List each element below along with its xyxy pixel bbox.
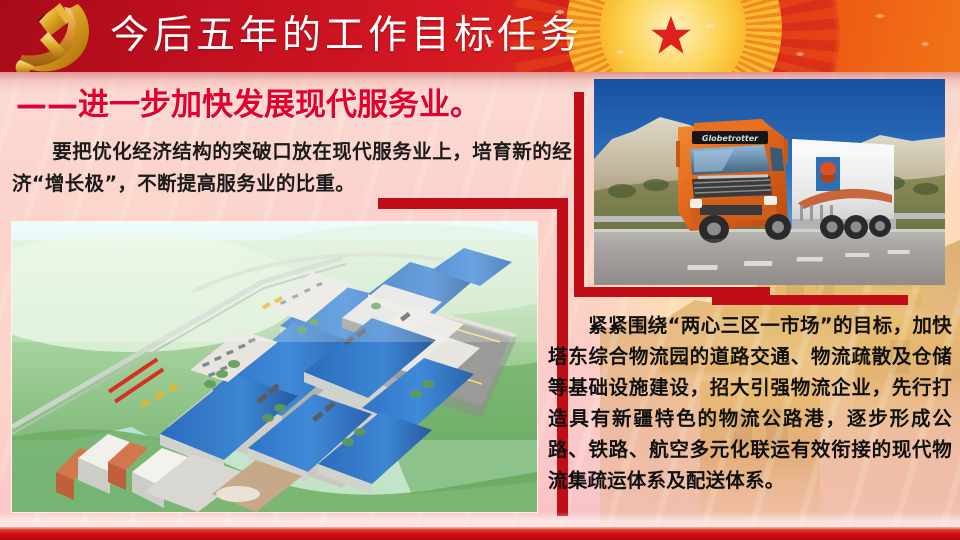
right-body-text: 紧紧围绕“两心三区一市场”的目标，加快塔东综合物流园的道路交通、物流疏散及仓储等…: [548, 310, 952, 496]
slide-root: 今后五年的工作目标任务 ——进一步加快发展现代服务业。 要把优化经济结构的突破口…: [0, 0, 960, 540]
bottom-accent-bar: [0, 527, 960, 540]
right-body-content: 紧紧围绕“两心三区一市场”的目标，加快塔东综合物流园的道路交通、物流疏散及仓储等…: [548, 314, 952, 492]
section-heading: ——进一步加快发展现代服务业。: [16, 88, 536, 122]
page-title: 今后五年的工作目标任务: [110, 8, 583, 64]
truck-image: Globetrotter: [594, 79, 945, 285]
truck-brand-label: Globetrotter: [702, 134, 759, 143]
left-body-text: 要把优化经济结构的突破口放在现代服务业上，培育新的经济“增长极”，不断提高服务业…: [12, 136, 572, 200]
logistics-park-image: [12, 222, 537, 512]
divider-right-red: [712, 295, 908, 305]
left-body-content: 要把优化经济结构的突破口放在现代服务业上，培育新的经济“增长极”，不断提高服务业…: [12, 140, 572, 195]
park-frame-top: [378, 198, 568, 209]
bottom-sheen: [0, 512, 960, 528]
header-banner: 今后五年的工作目标任务: [0, 0, 960, 72]
truck-frame-left: [574, 92, 584, 297]
hammer-and-sickle-icon: [8, 0, 108, 72]
